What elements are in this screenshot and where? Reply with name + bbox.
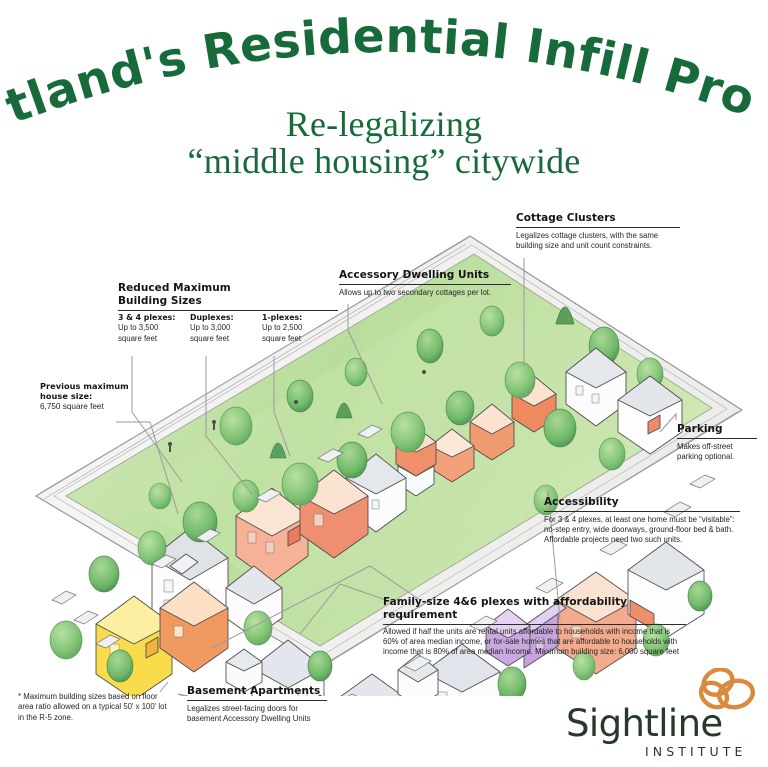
annotation-basement-apartments: Basement Apartments Legalizes street-fac… bbox=[187, 685, 327, 724]
previous-max-body: 6,750 square feet bbox=[40, 402, 145, 412]
annotation-cottage-clusters: Cottage Clusters Legalizes cottage clust… bbox=[516, 212, 680, 251]
basement-heading: Basement Apartments bbox=[187, 685, 327, 698]
annotation-previous-max-house-size: Previous maximum house size: 6,750 squar… bbox=[40, 381, 145, 412]
accessibility-heading: Accessibility bbox=[544, 496, 740, 509]
sightline-institute-logo[interactable]: Sightline INSTITUTE bbox=[566, 668, 762, 764]
size-column-plexes-line1: Up to 3,500 bbox=[118, 323, 180, 333]
logo-wordmark: Sightline bbox=[566, 704, 726, 744]
subtitle-line-2: “middle housing” citywide bbox=[0, 140, 768, 182]
size-column-plexes: 3 & 4 plexes: Up to 3,500 square feet bbox=[118, 313, 180, 344]
annotation-family-size-plexes: Family-size 4&6 plexes with affordabilit… bbox=[383, 596, 686, 658]
size-column-duplexes: Duplexes: Up to 3,000 square feet bbox=[190, 313, 252, 344]
subtitle-line-1: Re-legalizing bbox=[0, 103, 768, 145]
accessibility-divider bbox=[544, 511, 740, 512]
parking-body: Makes off-street parking optional. bbox=[677, 442, 757, 462]
annotation-accessory-dwelling-units: Accessory Dwelling Units Allows up to tw… bbox=[339, 269, 511, 298]
cottage-clusters-divider bbox=[516, 227, 680, 228]
size-column-duplexes-line2: square feet bbox=[190, 334, 252, 344]
reduced-sizes-heading-line1: Reduced Maximum bbox=[118, 282, 338, 295]
size-column-plexes-line2: square feet bbox=[118, 334, 180, 344]
family-size-heading: Family-size 4&6 plexes with affordabilit… bbox=[383, 596, 686, 621]
adu-heading: Accessory Dwelling Units bbox=[339, 269, 511, 282]
cottage-clusters-heading: Cottage Clusters bbox=[516, 212, 680, 225]
size-column-duplexes-label: Duplexes: bbox=[190, 313, 252, 323]
infographic-poster: Portland's Residential Infill Project Re… bbox=[0, 0, 768, 767]
size-column-1plexes-line1: Up to 2,500 bbox=[262, 323, 324, 333]
adu-divider bbox=[339, 284, 511, 285]
previous-max-heading-line2: house size: bbox=[40, 391, 145, 401]
family-size-divider bbox=[383, 624, 686, 625]
footnote-text: * Maximum building sizes based on floor … bbox=[18, 692, 170, 723]
size-column-1plexes: 1-plexes: Up to 2,500 square feet bbox=[262, 313, 324, 344]
family-size-body: Allowed if half the units are rental uni… bbox=[383, 627, 686, 658]
basement-body: Legalizes street-facing doors for baseme… bbox=[187, 704, 327, 724]
size-column-duplexes-line1: Up to 3,000 bbox=[190, 323, 252, 333]
size-column-1plexes-line2: square feet bbox=[262, 334, 324, 344]
reduced-sizes-heading-line2: Building Sizes bbox=[118, 295, 338, 308]
previous-max-heading-line1: Previous maximum bbox=[40, 381, 145, 391]
reduced-sizes-divider bbox=[118, 310, 338, 311]
logo-subtext: INSTITUTE bbox=[645, 744, 747, 759]
annotation-reduced-building-sizes: Reduced Maximum Building Sizes 3 & 4 ple… bbox=[118, 282, 338, 344]
annotation-accessibility: Accessibility For 3 & 4 plexes, at least… bbox=[544, 496, 740, 545]
size-column-1plexes-label: 1-plexes: bbox=[262, 313, 324, 323]
parking-heading: Parking bbox=[677, 423, 757, 436]
building-size-columns: 3 & 4 plexes: Up to 3,500 square feet Du… bbox=[118, 313, 338, 344]
basement-divider bbox=[187, 700, 327, 701]
accessibility-body: For 3 & 4 plexes, at least one home must… bbox=[544, 515, 740, 546]
size-column-plexes-label: 3 & 4 plexes: bbox=[118, 313, 180, 323]
parking-divider bbox=[677, 438, 757, 439]
annotation-parking: Parking Makes off-street parking optiona… bbox=[677, 423, 757, 462]
adu-body: Allows up to two secondary cottages per … bbox=[339, 288, 511, 298]
cottage-clusters-body: Legalizes cottage clusters, with the sam… bbox=[516, 231, 680, 251]
